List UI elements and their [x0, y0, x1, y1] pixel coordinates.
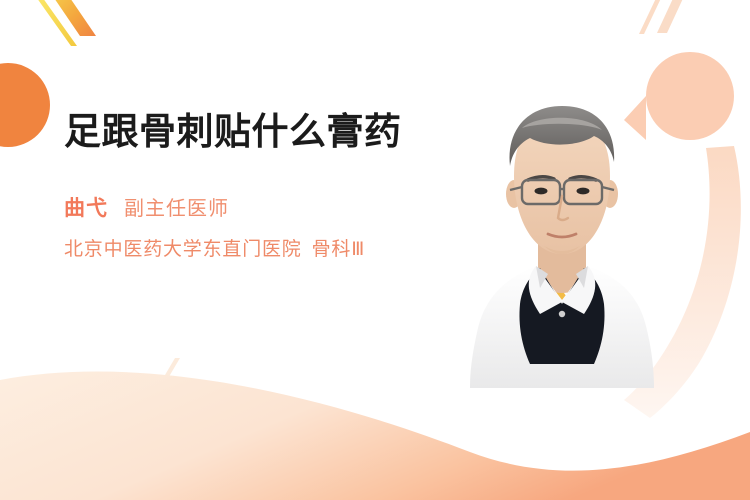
doctor-job-title: 副主任医师 — [124, 192, 229, 221]
doctor-portrait — [452, 88, 672, 388]
hospital-name: 北京中医药大学东直门医院 — [64, 239, 302, 260]
top-right-stripe-peach-icon — [639, 0, 686, 34]
doctor-credentials: 曲弋 副主任医师 — [64, 192, 454, 222]
text-block: 足跟骨刺贴什么膏药 曲弋 副主任医师 北京中医药大学东直门医院骨科Ⅲ — [64, 110, 454, 261]
bottom-left-stripe-icon — [152, 358, 180, 397]
top-left-stripe-orange-icon — [50, 0, 96, 36]
bottom-peach-wave-icon — [0, 372, 750, 500]
top-left-stripe-yellow-icon — [34, 0, 77, 46]
department-name: 骨科Ⅲ — [312, 239, 366, 260]
doctor-name: 曲弋 — [64, 192, 108, 222]
doctor-video-thumbnail: 足跟骨刺贴什么膏药 曲弋 副主任医师 北京中医药大学东直门医院骨科Ⅲ — [0, 0, 750, 500]
left-orange-circle-icon — [0, 63, 50, 147]
doctor-affiliation: 北京中医药大学东直门医院骨科Ⅲ — [64, 234, 454, 261]
page-title: 足跟骨刺贴什么膏药 — [64, 110, 454, 154]
